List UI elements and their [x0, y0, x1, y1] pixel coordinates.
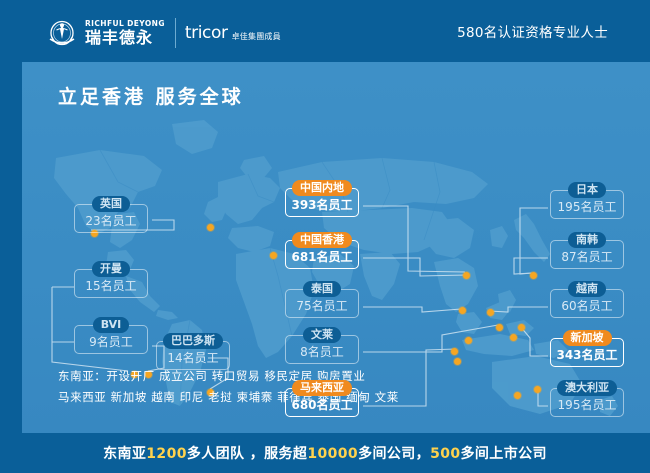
partner-name: tricor	[185, 25, 228, 42]
map-panel: 立足香港 服务全球 英国23名员工开曼15名员工BVI9名员工巴巴多斯14名员工…	[22, 62, 650, 433]
country-label[interactable]: 日本195名员工	[550, 182, 624, 219]
city-dot	[496, 324, 503, 331]
country-name: 南韩	[568, 232, 606, 248]
country-name: 巴巴多斯	[163, 333, 223, 349]
city-dot	[454, 358, 461, 365]
country-label[interactable]: 越南60名员工	[550, 281, 624, 318]
city-dot	[463, 272, 470, 279]
city-dot	[207, 224, 214, 231]
city-dot	[530, 272, 537, 279]
country-name: 中国内地	[292, 180, 352, 196]
page-title: 立足香港 服务全球	[58, 82, 244, 109]
footer-stat-number: 500	[430, 446, 460, 462]
country-label[interactable]: 中国香港681名员工	[285, 232, 359, 269]
country-name: 英国	[92, 196, 130, 212]
country-label[interactable]: 开曼15名员工	[74, 261, 148, 298]
city-dot	[459, 307, 466, 314]
brand-english-name: RICHFUL DEYONG	[85, 19, 165, 28]
footer-stat-number: 1200	[146, 446, 187, 462]
page-header: RICHFUL DEYONG 瑞丰德永 tricor 卓佳集團成員 580名认证…	[0, 0, 650, 62]
footer-stat-text: 多间上市公司	[461, 446, 547, 462]
country-name: 文莱	[303, 327, 341, 343]
footer-stat-text: 多人团队 ，服务超	[187, 446, 307, 462]
country-label[interactable]: 南韩87名员工	[550, 232, 624, 269]
shield-crest-icon	[46, 17, 78, 49]
country-name: 马来西亚	[292, 380, 352, 396]
country-label[interactable]: 巴巴多斯14名员工	[156, 333, 230, 370]
country-name: 新加坡	[563, 330, 612, 346]
country-label[interactable]: 英国23名员工	[74, 196, 148, 233]
country-name: 日本	[568, 182, 606, 198]
city-dot	[514, 392, 521, 399]
city-dot	[451, 348, 458, 355]
country-label[interactable]: BVI9名员工	[74, 317, 148, 354]
city-dot	[487, 309, 494, 316]
footer-stat-number: 10000	[307, 446, 358, 462]
header-tagline: 580名认证资格专业人士	[457, 0, 608, 62]
city-dot	[270, 252, 277, 259]
country-name: 澳大利亚	[557, 380, 617, 396]
footer-summary-text: 东南亚1200多人团队 ，服务超10000多间公司，500多间上市公司	[103, 443, 547, 463]
city-dot	[510, 334, 517, 341]
logo-divider	[175, 18, 176, 48]
city-dot	[465, 337, 472, 344]
infographic-poster: RICHFUL DEYONG 瑞丰德永 tricor 卓佳集團成員 580名认证…	[0, 0, 650, 473]
country-label[interactable]: 澳大利亚195名员工	[550, 380, 624, 417]
country-label[interactable]: 泰国75名员工	[285, 281, 359, 318]
country-label[interactable]: 文莱8名员工	[285, 327, 359, 364]
footer-stat-text: 多间公司，	[358, 446, 430, 462]
city-dot	[534, 386, 541, 393]
header-tagline-text: 580名认证资格专业人士	[457, 21, 608, 41]
page-footer: 东南亚1200多人团队 ，服务超10000多间公司，500多间上市公司	[0, 433, 650, 473]
partner-subtitle: 卓佳集團成員	[232, 31, 281, 42]
city-dot	[518, 324, 525, 331]
footer-stat-text: 东南亚	[103, 446, 146, 462]
country-name: 越南	[568, 281, 606, 297]
brand-logo: RICHFUL DEYONG 瑞丰德永 tricor 卓佳集團成員	[46, 17, 281, 49]
country-name: 泰国	[303, 281, 341, 297]
country-name: 开曼	[92, 261, 130, 277]
country-name: 中国香港	[292, 232, 352, 248]
country-label[interactable]: 新加坡343名员工	[550, 330, 624, 367]
country-label[interactable]: 中国内地393名员工	[285, 180, 359, 217]
country-name: BVI	[93, 317, 130, 333]
brand-chinese-name: 瑞丰德永	[85, 29, 165, 47]
